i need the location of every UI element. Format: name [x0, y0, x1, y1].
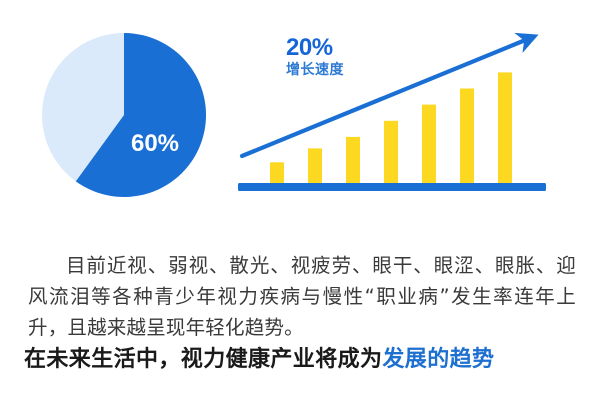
headline-lead-text: 在未来生活中，视力健康产业将成为: [24, 347, 382, 372]
growth-subtitle-label: 增长速度: [286, 62, 416, 77]
pie-slice-value-label: 60%: [42, 131, 206, 157]
growth-annotation: 20% 增长速度: [286, 35, 416, 77]
growth-percent-label: 20%: [286, 35, 416, 60]
headline: 在未来生活中，视力健康产业将成为发展的趋势: [24, 341, 584, 373]
headline-accent-text: 发展的趋势: [382, 347, 494, 372]
bar-7: [498, 72, 512, 183]
bar-1: [270, 162, 284, 183]
bar-2: [308, 148, 322, 183]
bar-4: [384, 121, 398, 183]
bar-5: [422, 105, 436, 183]
chart-baseline: [238, 183, 546, 191]
pie-chart: 60%: [42, 33, 206, 197]
bar-6: [460, 89, 474, 184]
body-paragraph: 目前近视、弱视、散光、视疲劳、眼干、眼涩、眼胀、迎风流泪等各种青少年视力疾病与慢…: [28, 250, 576, 343]
pie-chart-svg: [42, 33, 206, 197]
infographic-canvas: 60% 20% 增长速度 目前近视、弱视、散光、: [0, 0, 600, 400]
bar-3: [346, 137, 360, 183]
